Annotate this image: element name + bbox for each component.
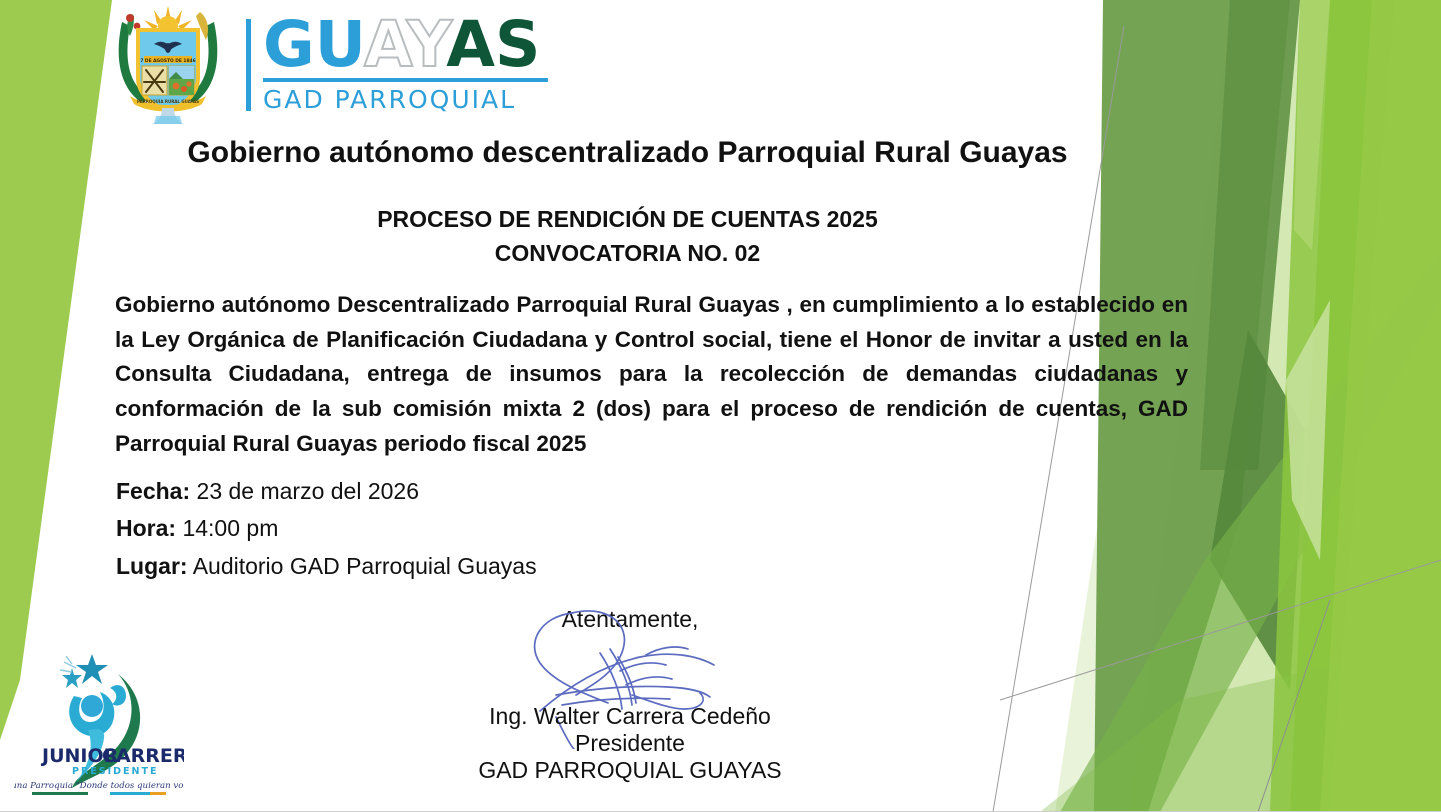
right-pale-1 [1330,0,1441,812]
slogan-underline-green [32,792,88,795]
page-title: Gobierno autónomo descentralizado Parroq… [0,136,1255,170]
wordmark-part-3: AS [446,8,540,81]
pale-sliver-2 [1294,0,1330,250]
bright-overlay-right-2 [1320,0,1441,812]
dark-green-wedge [1210,330,1305,690]
signature-block: Atentamente, [330,606,930,784]
hairline-diagonal-3 [1258,600,1330,812]
subtitle-line-2: CONVOCATORIA NO. 02 [0,237,1255,271]
detail-row-lugar: Lugar: Auditorio GAD Parroquial Guayas [116,548,876,585]
hairline-diagonal-2 [1000,560,1441,700]
detail-label-lugar: Lugar: [116,553,188,579]
figure-head [81,695,103,717]
star-large-icon [76,654,108,684]
signature-name: Ing. Walter Carrera Cedeño [330,703,930,730]
lower-green-band-2 [1040,640,1441,812]
signature-space [330,633,930,703]
svg-text:7 DE AGOSTO DE 1846: 7 DE AGOSTO DE 1846 [140,58,195,64]
cyan-figure-arm [110,685,126,705]
institution-logo: 7 DE AGOSTO DE 1846 PARROQUIA RURAL GUAY… [104,4,554,126]
sparkle-lines-icon [60,656,76,672]
detail-value-fecha: 23 de marzo del 2026 [197,478,420,504]
campaign-logo: JUNIOR CARRERA PRESIDENTE Por una Parroq… [14,638,184,806]
slogan-underline-cyan [110,792,150,795]
campaign-slogan: Por una Parroquia "Donde todos quieran v… [14,781,184,791]
wordmark-part-1: GU [263,8,364,81]
left-green-wedge [0,0,112,740]
pale-sliver-1 [1286,300,1330,560]
wordmark-text: GUAYAS [263,16,548,74]
svg-text:PARROQUIA RURAL GUAYAS: PARROQUIA RURAL GUAYAS [137,99,199,104]
bright-overlay-right [1270,0,1441,812]
signature-role: Presidente [330,730,930,757]
campaign-name-2: CARRERA [102,745,184,767]
wordmark-subtitle: GAD PARROQUIAL [263,85,548,114]
campaign-role: PRESIDENTE [72,766,158,777]
subtitle-block: PROCESO DE RENDICIÓN DE CUENTAS 2025 CON… [0,203,1255,270]
subtitle-line-1: PROCESO DE RENDICIÓN DE CUENTAS 2025 [0,203,1255,237]
detail-label-fecha: Fecha: [116,478,190,504]
signature-organization: GAD PARROQUIAL GUAYAS [330,757,930,784]
junior-carrera-figure-icon: JUNIOR CARRERA PRESIDENTE Por una Parroq… [14,638,184,806]
detail-row-fecha: Fecha: 23 de marzo del 2026 [116,473,876,510]
detail-row-hora: Hora: 14:00 pm [116,510,876,547]
certificate-slide: 7 DE AGOSTO DE 1846 PARROQUIA RURAL GUAY… [0,0,1441,812]
event-details: Fecha: 23 de marzo del 2026 Hora: 14:00 … [116,473,876,585]
logo-wordmark: GUAYAS GAD PARROQUIAL [263,16,548,114]
detail-label-hora: Hora: [116,515,176,541]
detail-value-lugar: Auditorio GAD Parroquial Guayas [193,553,537,579]
logo-divider [246,19,251,111]
detail-value-hora: 14:00 pm [182,515,278,541]
coat-of-arms-icon: 7 DE AGOSTO DE 1846 PARROQUIA RURAL GUAY… [104,4,232,126]
slogan-underline-orange [150,792,166,795]
body-paragraph: Gobierno autónomo Descentralizado Parroq… [115,288,1188,461]
wordmark-part-2: AY [364,8,446,81]
